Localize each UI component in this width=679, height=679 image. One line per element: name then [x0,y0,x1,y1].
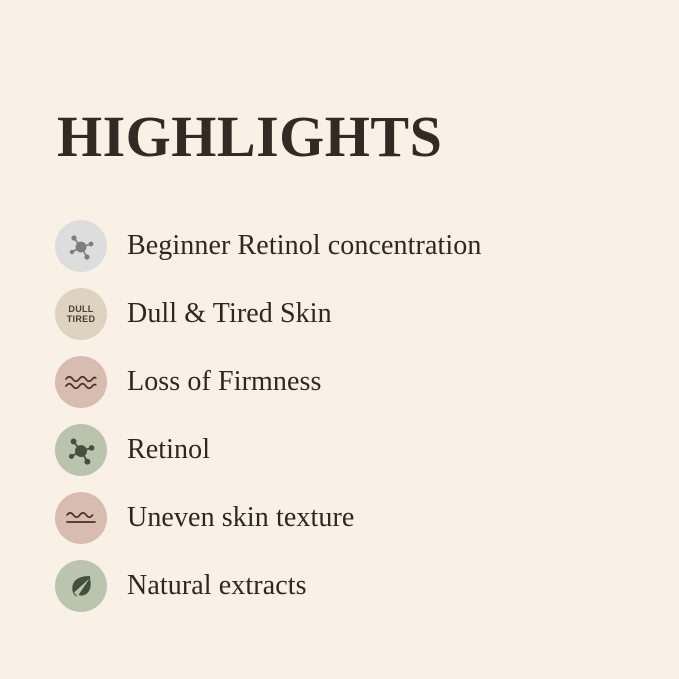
list-item: Retinol [55,416,635,484]
dull-tired-text-icon: DULL TIRED [55,288,107,340]
badge-text: DULL TIRED [67,304,96,324]
double-wave-icon [55,356,107,408]
highlights-panel: HIGHLIGHTS [0,0,679,679]
list-item-label: Beginner Retinol concentration [127,231,481,262]
list-item: Uneven skin texture [55,484,635,552]
list-item-label: Dull & Tired Skin [127,299,332,330]
list-item: Beginner Retinol concentration [55,212,635,280]
molecule-icon [55,220,107,272]
list-item-label: Retinol [127,435,210,466]
leaf-icon [55,560,107,612]
list-item: DULL TIRED Dull & Tired Skin [55,280,635,348]
list-item: Natural extracts [55,552,635,620]
page-title: HIGHLIGHTS [57,108,442,166]
list-item-label: Uneven skin texture [127,503,354,534]
highlights-list: Beginner Retinol concentration DULL TIRE… [55,212,635,620]
molecule-icon [55,424,107,476]
list-item-label: Loss of Firmness [127,367,322,398]
wave-over-line-icon [55,492,107,544]
list-item-label: Natural extracts [127,571,307,602]
list-item: Loss of Firmness [55,348,635,416]
